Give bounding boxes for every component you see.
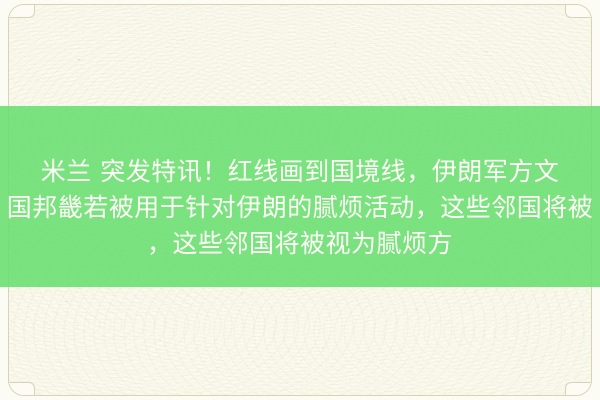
notched-corner-bottom-right-icon <box>565 382 592 396</box>
notched-corner-top-left-icon <box>8 4 35 18</box>
banner-image: 米兰 突发特讯！红线画到国境线，伊朗军方文 国邦畿若被用于针对伊朗的腻烦活动，这… <box>0 0 600 400</box>
notched-corner-bottom-left-icon <box>8 382 35 396</box>
notched-corner-top-right-icon <box>565 4 592 18</box>
headline-band <box>0 106 600 287</box>
